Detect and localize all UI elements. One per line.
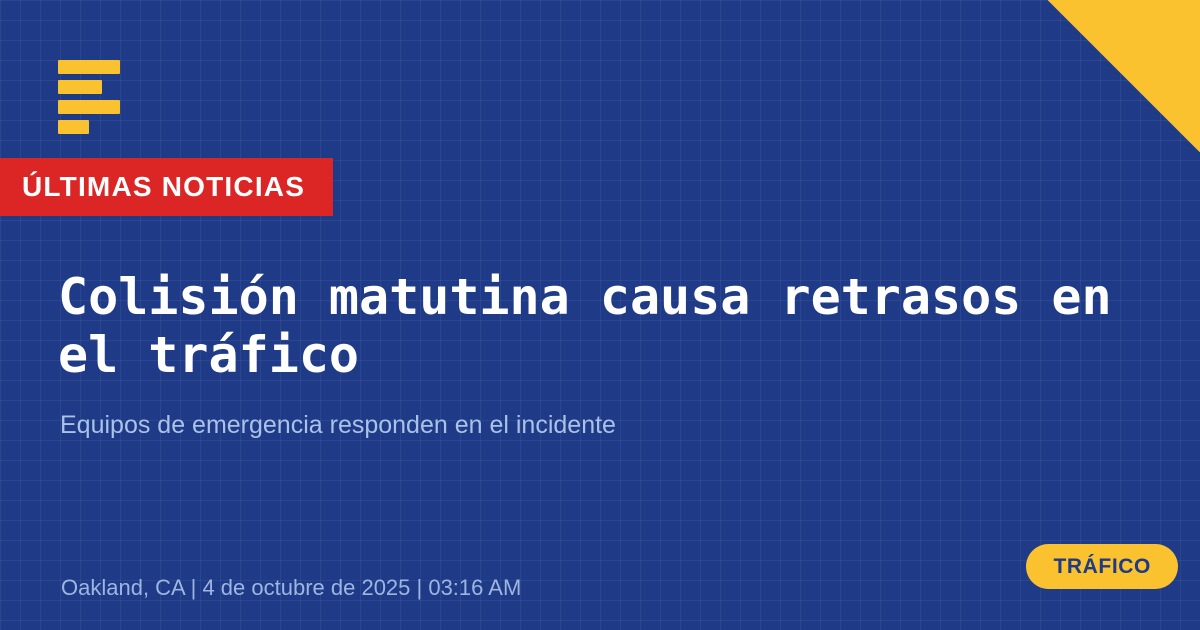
news-logo <box>58 60 128 134</box>
corner-wedge-decoration <box>1048 0 1200 152</box>
category-badge: TRÁFICO <box>1026 544 1178 589</box>
breaking-news-label: ÚLTIMAS NOTICIAS <box>22 173 305 201</box>
headline: Colisión matutina causa retrasos en el t… <box>58 268 1163 384</box>
breaking-news-card: ÚLTIMAS NOTICIAS Colisión matutina causa… <box>0 0 1200 630</box>
breaking-news-banner: ÚLTIMAS NOTICIAS <box>0 158 333 216</box>
meta-line: Oakland, CA | 4 de octubre de 2025 | 03:… <box>61 575 521 601</box>
logo-bar-4 <box>58 120 89 134</box>
logo-bar-2 <box>58 80 102 94</box>
subtitle: Equipos de emergencia responden en el in… <box>60 409 1060 442</box>
logo-bar-1 <box>58 60 120 74</box>
logo-bar-3 <box>58 100 120 114</box>
